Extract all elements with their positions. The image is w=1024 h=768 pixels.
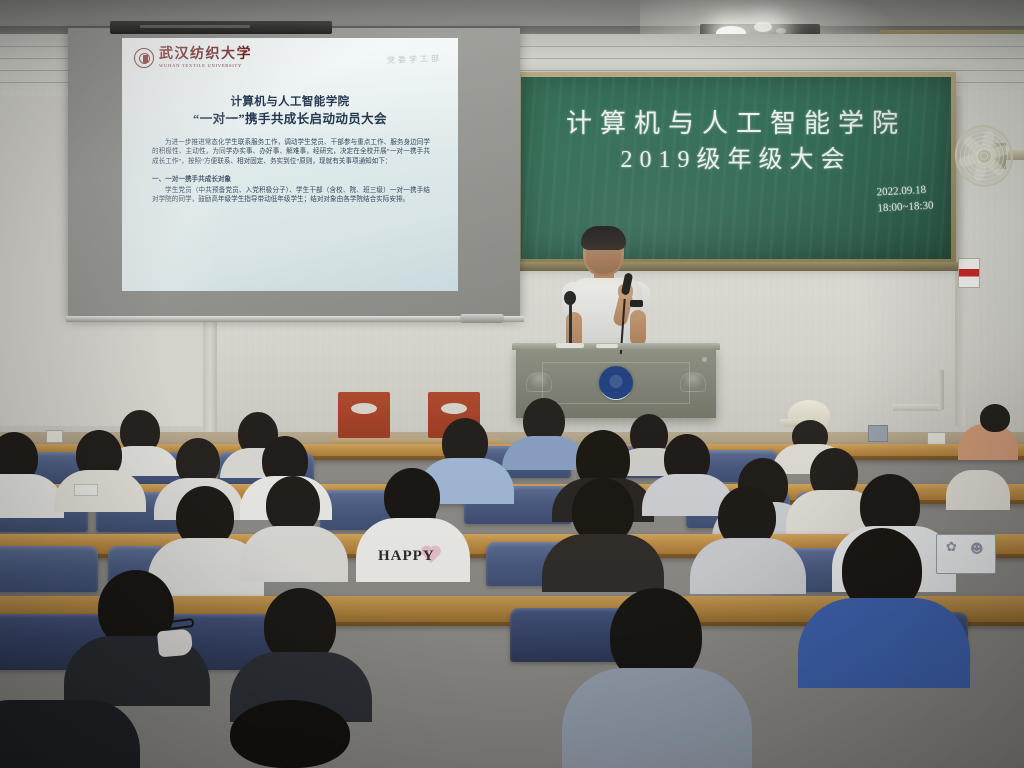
- slide-watermark: 党委学工部: [387, 53, 442, 66]
- podium-decoration-left: [526, 372, 552, 392]
- blackboard-chalk-tray: [514, 262, 958, 271]
- slide-paragraph-2: 学生党员（中共预备党员、入党积极分子）、学生干部（含校、院、班三级）一对一携手结…: [152, 186, 430, 205]
- cartoon-graphic-icon: [936, 534, 996, 574]
- slide-body: 为进一步推进常态化学生联系服务工作，调动学生党员、干部参与重点工作、服务身边同学…: [152, 138, 430, 205]
- blackboard-time: 18:00~18:30: [877, 198, 934, 217]
- front-chair-1[interactable]: [338, 392, 390, 438]
- slide-paragraph-1: 为进一步推进常态化学生联系服务工作，调动学生党员、干部参与重点工作、服务身边同学…: [152, 138, 430, 166]
- cartoon-glyph-icon: ✿: [946, 540, 957, 555]
- university-name-en: WUHAN TEXTILE UNIVERSITY: [159, 64, 252, 69]
- cartoon-glyph-icon-2: ☻: [970, 542, 984, 557]
- speaker-arm-right: [630, 310, 646, 346]
- podium-indicator: [702, 357, 707, 362]
- podium-microphone-base: [556, 343, 584, 348]
- wall-pipe: [893, 404, 941, 411]
- podium-inset-panel: [542, 362, 690, 404]
- projector-screen-roller[interactable]: [110, 21, 332, 34]
- blackboard-line-2: 2019级年级大会: [521, 139, 951, 174]
- slide-section-heading: 一、一对一携手共成长对象: [152, 175, 430, 184]
- podium-decoration-right: [680, 372, 706, 392]
- projector-screen-knob[interactable]: [460, 314, 504, 323]
- podium-item: [596, 344, 618, 348]
- lecture-hall-scene: 武汉纺织大学 WUHAN TEXTILE UNIVERSITY 党委学工部 计算…: [0, 0, 1024, 768]
- wall-pipe-vertical: [938, 370, 944, 410]
- slide-university-logo: 武汉纺织大学 WUHAN TEXTILE UNIVERSITY: [134, 48, 252, 69]
- podium-microphone-icon[interactable]: [564, 291, 576, 305]
- slide-title: 计算机与人工智能学院 “一对一”携手共成长启动动员大会: [122, 94, 458, 128]
- seat-r3-1[interactable]: [0, 546, 98, 592]
- blackboard-datetime: 2022.09.18 18:00~18:30: [876, 182, 934, 217]
- blackboard-line-1: 计算机与人工智能学院: [521, 103, 951, 140]
- wall-socket-icon-2: [46, 430, 63, 443]
- slide-title-line1: 计算机与人工智能学院: [122, 94, 458, 111]
- speaker-watch-icon: [630, 300, 643, 307]
- ceiling-light-icon-2: [754, 22, 772, 32]
- university-emblem-icon: [599, 366, 633, 400]
- wall-sign: [958, 258, 980, 288]
- projector-screen-bottom-bar: [66, 316, 524, 322]
- speaker-hair: [581, 226, 626, 250]
- tshirt-graphic-text: HAPPY: [378, 548, 435, 565]
- presentation-slide: 武汉纺织大学 WUHAN TEXTILE UNIVERSITY 党委学工部 计算…: [122, 38, 458, 291]
- name-tag: [74, 484, 98, 496]
- university-name-cn: 武汉纺织大学: [159, 48, 252, 62]
- wall-plate-icon: [868, 425, 888, 442]
- university-seal-icon: [134, 48, 154, 68]
- slide-title-line2: “一对一”携手共成长启动动员大会: [122, 111, 458, 128]
